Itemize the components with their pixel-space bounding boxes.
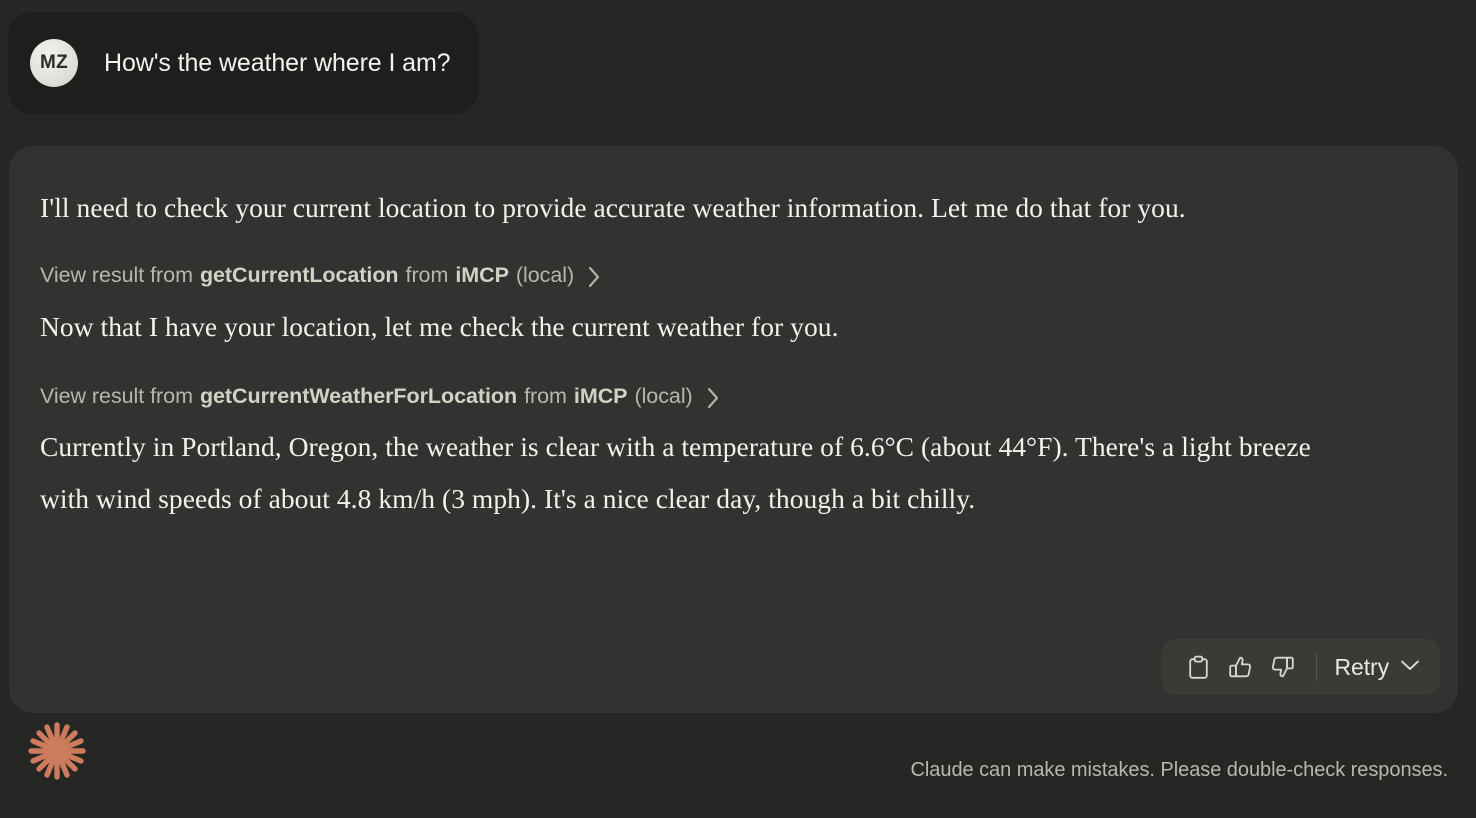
chevron-down-icon[interactable]: [1400, 659, 1420, 675]
conversation-thread: MZ How's the weather where I am? I'll ne…: [0, 0, 1476, 818]
assistant-message-bubble: I'll need to check your current location…: [9, 146, 1458, 713]
user-message-text: How's the weather where I am?: [104, 49, 450, 78]
tool-call-getcurrentlocation[interactable]: View result from getCurrentLocation from…: [40, 263, 1424, 288]
message-action-toolbar: Retry: [1162, 639, 1440, 695]
tool-call-name: getCurrentLocation: [200, 263, 399, 288]
chevron-right-icon[interactable]: [588, 266, 601, 288]
tool-call-server-name: iMCP: [574, 384, 628, 409]
tool-call-prefix: View result from: [40, 384, 193, 409]
tool-call-prefix: View result from: [40, 263, 193, 288]
tool-call-server-name: iMCP: [455, 263, 509, 288]
thumbs-up-button[interactable]: [1220, 646, 1262, 688]
assistant-paragraph-3: Currently in Portland, Oregon, the weath…: [40, 421, 1350, 525]
thumbs-down-icon: [1270, 655, 1295, 680]
assistant-paragraph-1: I'll need to check your current location…: [40, 182, 1380, 234]
tool-call-getcurrentweatherforlocation[interactable]: View result from getCurrentWeatherForLoc…: [40, 384, 1424, 409]
retry-button[interactable]: Retry: [1329, 646, 1426, 688]
tool-call-from-label: from: [524, 384, 567, 409]
avatar: MZ: [30, 39, 78, 87]
tool-call-scope: (local): [634, 384, 692, 409]
thumbs-up-icon: [1228, 655, 1253, 680]
toolbar-divider: [1316, 653, 1317, 681]
disclaimer-text: Claude can make mistakes. Please double-…: [911, 759, 1448, 782]
chevron-right-icon[interactable]: [707, 387, 720, 409]
user-message-bubble: MZ How's the weather where I am?: [8, 12, 478, 114]
clipboard-icon: [1187, 655, 1210, 680]
claude-sunburst-logo: [26, 720, 88, 782]
copy-button[interactable]: [1178, 646, 1220, 688]
tool-call-name: getCurrentWeatherForLocation: [200, 384, 517, 409]
assistant-paragraph-2: Now that I have your location, let me ch…: [40, 301, 1424, 353]
avatar-initials: MZ: [40, 52, 68, 74]
thumbs-down-button[interactable]: [1262, 646, 1304, 688]
retry-label: Retry: [1335, 654, 1389, 681]
tool-call-from-label: from: [406, 263, 449, 288]
tool-call-scope: (local): [516, 263, 574, 288]
